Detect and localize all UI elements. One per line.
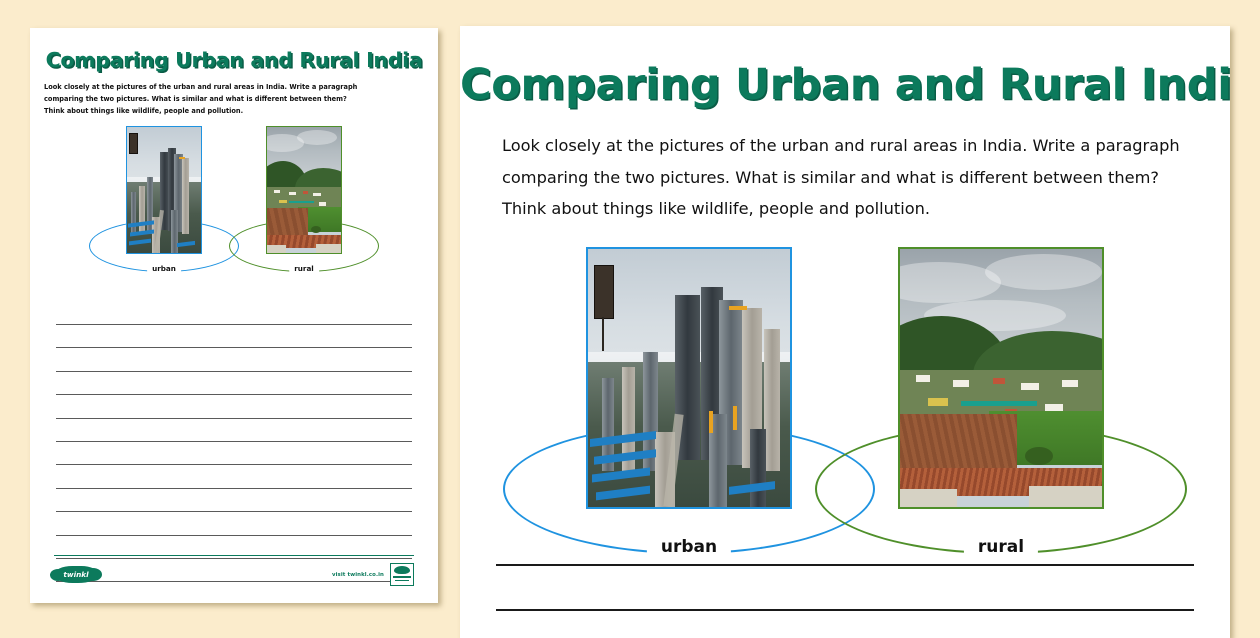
intro-paragraph-large: Look closely at the pictures of the urba…: [502, 130, 1192, 225]
answer-line[interactable]: [56, 511, 412, 512]
answer-line[interactable]: [56, 347, 412, 348]
photo-row: urban: [30, 126, 438, 254]
answer-line[interactable]: [56, 394, 412, 395]
intro-line-2: comparing the two pictures. What is simi…: [502, 162, 1192, 194]
screenshot-stage: Comparing Urban and Rural India Look clo…: [0, 0, 1260, 630]
answer-line[interactable]: [56, 371, 412, 372]
photo-row-large: urban: [460, 247, 1230, 509]
urban-photo-block-large: urban: [586, 247, 792, 509]
intro-line-1: Look closely at the pictures of the urba…: [44, 81, 424, 93]
urban-photo-large: [586, 247, 792, 509]
intro-line-3: Think about things like wildlife, people…: [44, 105, 424, 117]
intro-line-1: Look closely at the pictures of the urba…: [502, 130, 1192, 162]
twinkl-logo[interactable]: twinkl: [54, 566, 98, 583]
urban-photo-block: urban: [126, 126, 202, 254]
page-footer: twinkl visit twinkl.co.in: [54, 555, 414, 586]
page-title: Comparing Urban and Rural India: [30, 48, 438, 72]
urban-caption: urban: [147, 264, 181, 273]
answer-line[interactable]: [56, 418, 412, 419]
intro-line-2: comparing the two pictures. What is simi…: [44, 93, 424, 105]
page-title-large: Comparing Urban and Rural India: [460, 60, 1230, 110]
rural-photo: [266, 126, 342, 254]
rural-photo-large: [898, 247, 1104, 509]
answer-lines-large[interactable]: [496, 564, 1194, 638]
intro-line-3: Think about things like wildlife, people…: [502, 193, 1192, 225]
twinkl-quality-badge-icon: [390, 563, 414, 586]
worksheet-full-page[interactable]: Comparing Urban and Rural India Look clo…: [460, 26, 1230, 638]
twinkl-logo-text: twinkl: [54, 566, 98, 583]
answer-line[interactable]: [56, 324, 412, 325]
urban-caption-large: urban: [647, 537, 731, 557]
answer-line[interactable]: [496, 609, 1194, 611]
answer-line[interactable]: [496, 564, 1194, 566]
footer-divider: [54, 555, 414, 556]
rural-caption-large: rural: [964, 537, 1038, 557]
answer-line[interactable]: [56, 441, 412, 442]
answer-line[interactable]: [56, 535, 412, 536]
urban-photo: [126, 126, 202, 254]
worksheet-thumbnail-page[interactable]: Comparing Urban and Rural India Look clo…: [30, 28, 438, 603]
intro-paragraph: Look closely at the pictures of the urba…: [44, 81, 424, 118]
answer-line[interactable]: [56, 464, 412, 465]
rural-photo-block-large: rural: [898, 247, 1104, 509]
visit-url-text[interactable]: visit twinkl.co.in: [332, 572, 384, 578]
rural-photo-block: rural: [266, 126, 342, 254]
footer-right: visit twinkl.co.in: [332, 563, 414, 586]
answer-line[interactable]: [56, 488, 412, 489]
rural-caption: rural: [289, 264, 319, 273]
